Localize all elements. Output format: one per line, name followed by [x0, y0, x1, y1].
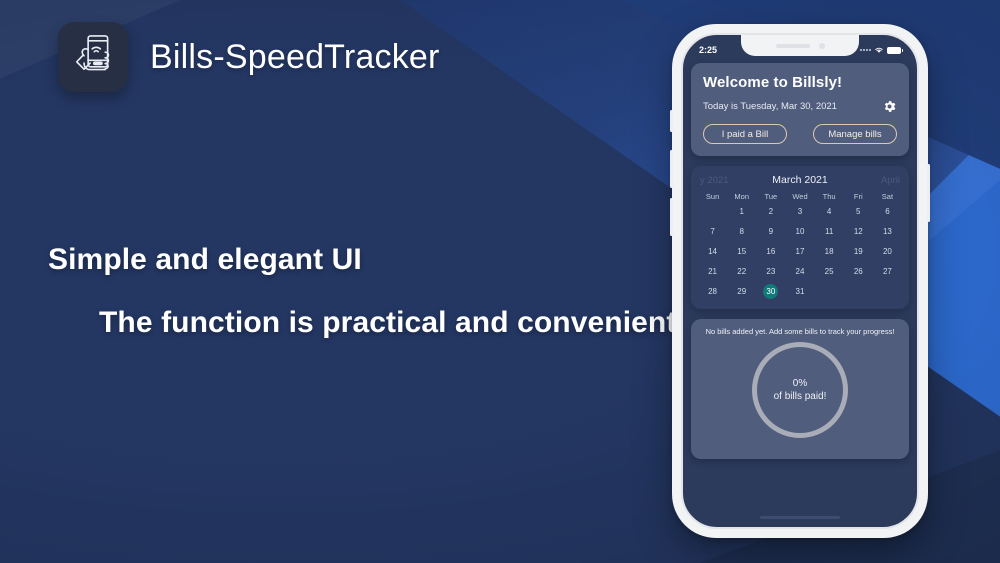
calendar-day[interactable]: 23: [756, 264, 785, 279]
app-content: Welcome to Billsly! Today is Tuesday, Ma…: [683, 61, 917, 459]
calendar-weekday: Wed: [785, 192, 814, 204]
app-icon: [58, 22, 128, 92]
phone-power-button[interactable]: [927, 164, 930, 222]
calendar-day[interactable]: 27: [873, 264, 902, 279]
calendar-weekday-row: SunMonTueWedThuFriSat: [698, 192, 902, 204]
calendar-day[interactable]: 1: [727, 204, 756, 219]
welcome-actions: I paid a Bill Manage bills: [703, 124, 897, 144]
calendar-day[interactable]: 6: [873, 204, 902, 219]
battery-full-icon: [887, 47, 901, 54]
calendar-day-selected[interactable]: 30: [756, 284, 785, 299]
calendar-day[interactable]: 22: [727, 264, 756, 279]
calendar-day[interactable]: 20: [873, 244, 902, 259]
phone-volume-down[interactable]: [670, 198, 673, 236]
manage-bills-button[interactable]: Manage bills: [813, 124, 897, 144]
calendar-day[interactable]: 16: [756, 244, 785, 259]
calendar-day[interactable]: 15: [727, 244, 756, 259]
calendar-day[interactable]: 24: [785, 264, 814, 279]
tagline-secondary: The function is practical and convenient: [99, 306, 676, 340]
calendar-day[interactable]: 31: [785, 284, 814, 299]
calendar-day[interactable]: 12: [844, 224, 873, 239]
front-camera-icon: [819, 43, 825, 49]
promo-banner: Bills-SpeedTracker Simple and elegant UI…: [0, 0, 1000, 563]
progress-ring: 0% of bills paid!: [752, 342, 848, 438]
calendar-day[interactable]: 11: [815, 224, 844, 239]
home-indicator[interactable]: [760, 516, 840, 519]
calendar-day[interactable]: 5: [844, 204, 873, 219]
progress-percent: 0%: [793, 377, 807, 391]
brand-header: Bills-SpeedTracker: [58, 22, 440, 92]
calendar-day[interactable]: 8: [727, 224, 756, 239]
calendar-day[interactable]: 13: [873, 224, 902, 239]
calendar-day[interactable]: 4: [815, 204, 844, 219]
progress-card: No bills added yet. Add some bills to tr…: [691, 319, 909, 459]
phone-volume-up[interactable]: [670, 150, 673, 188]
gear-icon[interactable]: [882, 99, 897, 114]
status-bar-indicators: [860, 46, 901, 54]
welcome-date-row: Today is Tuesday, Mar 30, 2021: [703, 99, 897, 114]
phone-mute-switch[interactable]: [670, 110, 673, 132]
progress-ring-wrap: 0% of bills paid!: [699, 342, 901, 438]
calendar-day[interactable]: 26: [844, 264, 873, 279]
calendar-weekday: Thu: [815, 192, 844, 204]
calendar-day[interactable]: 9: [756, 224, 785, 239]
calendar-day[interactable]: 28: [698, 284, 727, 299]
calendar-day[interactable]: 10: [785, 224, 814, 239]
no-bills-message: No bills added yet. Add some bills to tr…: [699, 327, 901, 336]
calendar-prev-month[interactable]: y 2021: [700, 175, 734, 186]
calendar-day[interactable]: 3: [785, 204, 814, 219]
calendar-day[interactable]: 2: [756, 204, 785, 219]
calendar-weekday: Mon: [727, 192, 756, 204]
calendar-day[interactable]: 25: [815, 264, 844, 279]
calendar-day-grid: 1234567891011121314151617181920212223242…: [698, 204, 902, 299]
phone-mockup: 2:25 Welcome to Billsly!: [672, 24, 928, 538]
earpiece-speaker: [776, 44, 810, 48]
phone-screen: 2:25 Welcome to Billsly!: [681, 33, 919, 529]
calendar-month-title: March 2021: [772, 174, 827, 186]
calendar-next-month[interactable]: April: [866, 175, 900, 186]
welcome-title: Welcome to Billsly!: [703, 74, 897, 91]
calendar-day[interactable]: 7: [698, 224, 727, 239]
calendar-day[interactable]: 19: [844, 244, 873, 259]
hand-holding-phone-icon: [67, 31, 119, 83]
phone-notch: [741, 35, 859, 56]
calendar-day[interactable]: 29: [727, 284, 756, 299]
i-paid-a-bill-button[interactable]: I paid a Bill: [703, 124, 787, 144]
calendar-day[interactable]: 17: [785, 244, 814, 259]
calendar-weekday: Tue: [756, 192, 785, 204]
progress-label: of bills paid!: [774, 390, 827, 404]
signal-dots-icon: [860, 49, 871, 51]
calendar-day[interactable]: 18: [815, 244, 844, 259]
calendar-weekday: Fri: [844, 192, 873, 204]
app-name-title: Bills-SpeedTracker: [150, 38, 440, 77]
calendar-card: y 2021 March 2021 April SunMonTueWedThuF…: [691, 166, 909, 309]
calendar-header: y 2021 March 2021 April: [698, 174, 902, 192]
today-date-label: Today is Tuesday, Mar 30, 2021: [703, 101, 837, 112]
tagline-primary: Simple and elegant UI: [48, 243, 362, 277]
calendar-day-highlight: 30: [763, 284, 778, 299]
calendar-weekday: Sun: [698, 192, 727, 204]
welcome-card: Welcome to Billsly! Today is Tuesday, Ma…: [691, 63, 909, 156]
calendar-day[interactable]: 21: [698, 264, 727, 279]
calendar-day[interactable]: 14: [698, 244, 727, 259]
status-bar-time: 2:25: [699, 45, 717, 55]
wifi-icon: [874, 46, 884, 54]
calendar-weekday: Sat: [873, 192, 902, 204]
